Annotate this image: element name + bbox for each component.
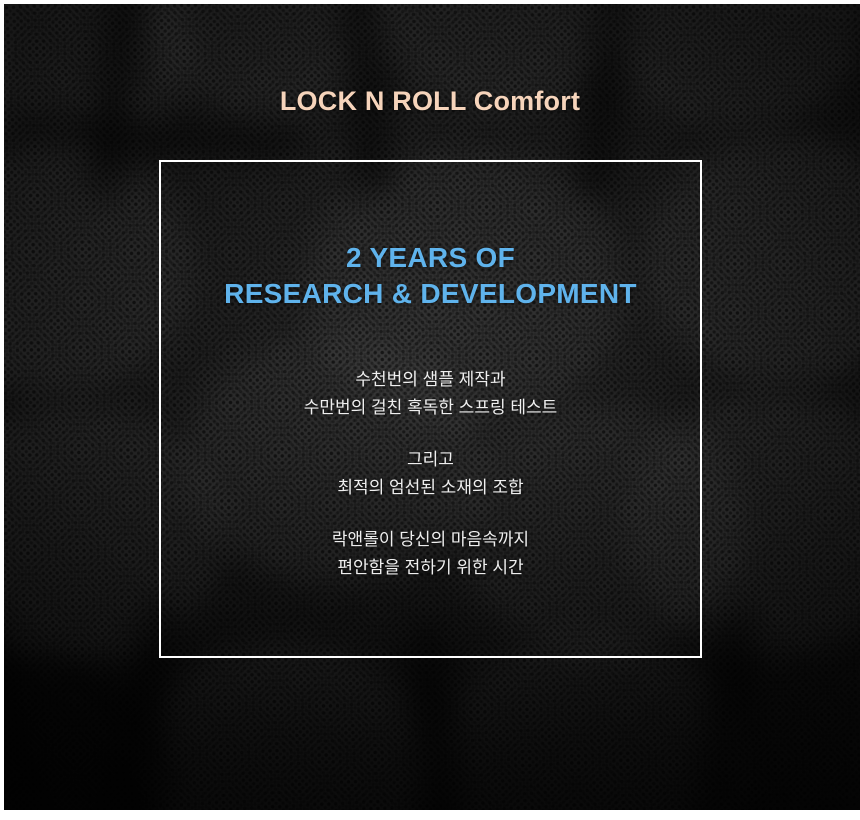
brand-title: LOCK N ROLL Comfort bbox=[0, 86, 860, 117]
headline: 2 YEARS OF RESEARCH & DEVELOPMENT bbox=[159, 240, 702, 312]
headline-line-2: RESEARCH & DEVELOPMENT bbox=[159, 276, 702, 312]
body-paragraph-1-line-1: 수천번의 샘플 제작과 bbox=[159, 366, 702, 394]
headline-line-1: 2 YEARS OF bbox=[159, 240, 702, 276]
body-paragraph-2-line-1: 그리고 bbox=[159, 446, 702, 474]
banner-content: LOCK N ROLL Comfort 2 YEARS OF RESEARCH … bbox=[0, 0, 860, 820]
body-paragraph-3-line-1: 락앤롤이 당신의 마음속까지 bbox=[159, 526, 702, 554]
body-paragraph-1-line-2: 수만번의 걸친 혹독한 스프링 테스트 bbox=[159, 394, 702, 422]
body-paragraph-2: 그리고 최적의 엄선된 소재의 조합 bbox=[159, 446, 702, 502]
body-copy: 수천번의 샘플 제작과 수만번의 걸친 혹독한 스프링 테스트 그리고 최적의 … bbox=[159, 366, 702, 582]
body-paragraph-3-line-2: 편안함을 전하기 위한 시간 bbox=[159, 554, 702, 582]
body-paragraph-3: 락앤롤이 당신의 마음속까지 편안함을 전하기 위한 시간 bbox=[159, 526, 702, 582]
promo-banner: LOCK N ROLL Comfort 2 YEARS OF RESEARCH … bbox=[0, 0, 860, 820]
body-paragraph-2-line-2: 최적의 엄선된 소재의 조합 bbox=[159, 474, 702, 502]
body-paragraph-1: 수천번의 샘플 제작과 수만번의 걸친 혹독한 스프링 테스트 bbox=[159, 366, 702, 422]
